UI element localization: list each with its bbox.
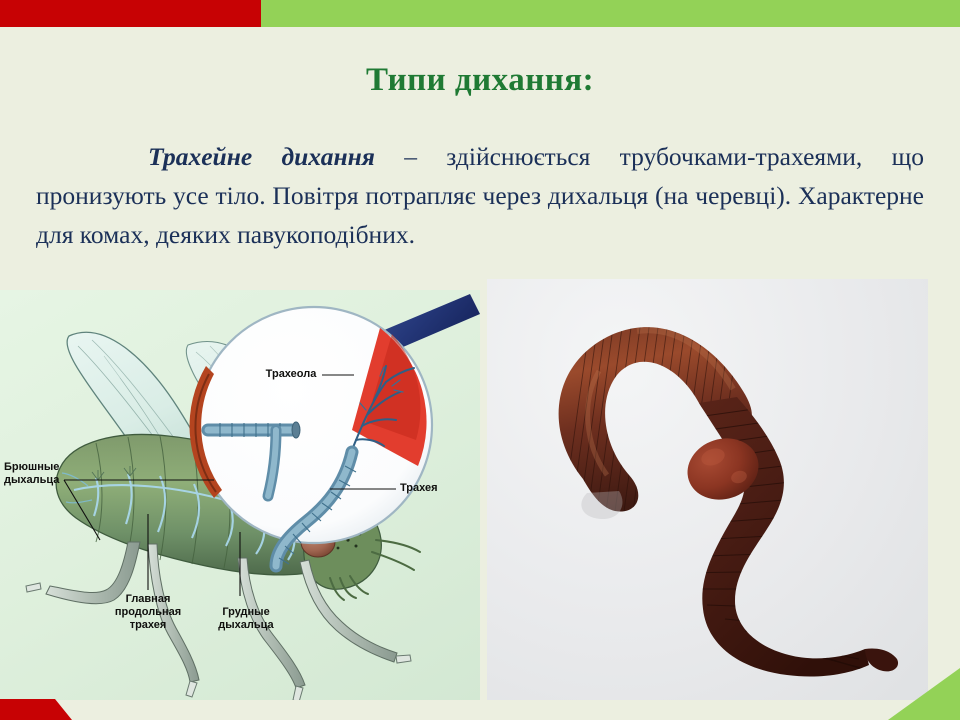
- insect-diagram-illustration: [0, 290, 480, 700]
- insect-label-trachea: Трахея: [400, 482, 460, 495]
- top-decorative-bar: [0, 0, 960, 27]
- insect-label-tracheole: Трахеола: [258, 368, 324, 381]
- earthworm-illustration: [487, 279, 928, 700]
- top-bar-green-segment: [261, 0, 960, 27]
- body-lead-term: Трахейне дихання: [148, 142, 375, 171]
- bottom-left-red-corner: [0, 699, 72, 720]
- figure-insect-tracheal-system: Брюшные дыхальца Главная продольная трах…: [0, 290, 480, 700]
- page-title: Типи дихання:: [0, 62, 960, 99]
- figure-earthworm-photo: [487, 279, 928, 700]
- body-paragraph: Трахейне дихання – здійснюється трубочка…: [36, 137, 924, 254]
- top-bar-red-segment: [0, 0, 261, 27]
- slide-canvas: Типи дихання: Трахейне дихання – здійсню…: [0, 0, 960, 720]
- insect-label-main-longitudinal-trachea: Главная продольная трахея: [96, 593, 200, 632]
- insect-label-abdominal-spiracles: Брюшные дыхальца: [4, 461, 76, 487]
- insect-label-thoracic-spiracles: Грудные дыхальца: [204, 606, 288, 632]
